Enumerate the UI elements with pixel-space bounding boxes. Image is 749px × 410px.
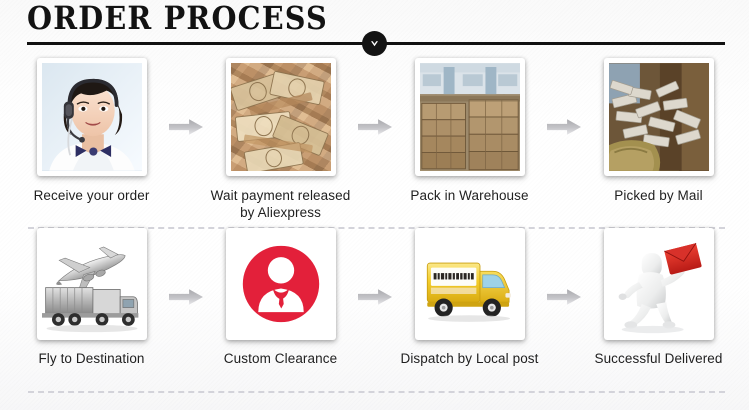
photo-frame-successful-delivered[interactable] bbox=[604, 228, 714, 340]
process-step-dispatch-local-post[interactable]: Dispatch by Local post bbox=[392, 228, 547, 367]
step-caption: Fly to Destination bbox=[8, 350, 176, 367]
arrow-right-icon bbox=[358, 228, 392, 308]
photo-frame-pack-warehouse[interactable] bbox=[415, 58, 525, 176]
step-caption-line-1: Wait payment released bbox=[211, 188, 351, 203]
step-caption: Receive your order bbox=[8, 187, 176, 204]
step-caption-line-2: by Aliexpress bbox=[240, 205, 321, 220]
photo-frame-dispatch-local-post[interactable] bbox=[415, 228, 525, 340]
process-step-wait-payment[interactable]: Wait payment released by Aliexpress bbox=[203, 58, 358, 221]
process-row-2: Fly to Destination Custom Clearance bbox=[0, 220, 749, 380]
page-title: ORDER PROCESS bbox=[27, 0, 328, 40]
process-step-receive-order[interactable]: Receive your order bbox=[14, 58, 169, 204]
photo-frame-wait-payment[interactable] bbox=[226, 58, 336, 176]
process-step-custom-clearance[interactable]: Custom Clearance bbox=[203, 228, 358, 367]
bottom-divider bbox=[28, 391, 725, 393]
step-caption: Wait payment released by Aliexpress bbox=[197, 187, 365, 221]
process-step-pack-warehouse[interactable]: Pack in Warehouse bbox=[392, 58, 547, 204]
process-step-fly-destination[interactable]: Fly to Destination bbox=[14, 228, 169, 367]
image-yellow-delivery-truck bbox=[420, 233, 520, 335]
image-mail-parcels bbox=[609, 63, 709, 171]
image-warehouse-boxes bbox=[420, 63, 520, 171]
arrow-right-icon bbox=[169, 58, 203, 138]
image-dollar-bills bbox=[231, 63, 331, 171]
process-step-picked-by-mail[interactable]: Picked by Mail bbox=[581, 58, 736, 204]
step-caption: Successful Delivered bbox=[575, 350, 743, 367]
step-caption: Pack in Warehouse bbox=[386, 187, 554, 204]
chevron-down-icon[interactable] bbox=[362, 31, 387, 56]
page-header: ORDER PROCESS bbox=[0, 0, 749, 52]
image-figure-with-envelope bbox=[609, 233, 709, 335]
photo-frame-receive-order[interactable] bbox=[37, 58, 147, 176]
photo-frame-picked-by-mail[interactable] bbox=[604, 58, 714, 176]
arrow-right-icon bbox=[169, 228, 203, 308]
photo-frame-fly-destination[interactable] bbox=[37, 228, 147, 340]
image-airplane-truck-logistics bbox=[42, 233, 142, 335]
step-caption: Dispatch by Local post bbox=[386, 350, 554, 367]
photo-frame-custom-clearance[interactable] bbox=[226, 228, 336, 340]
process-step-successful-delivered[interactable]: Successful Delivered bbox=[581, 228, 736, 367]
step-caption: Picked by Mail bbox=[575, 187, 743, 204]
step-caption: Custom Clearance bbox=[197, 350, 365, 367]
arrow-right-icon bbox=[547, 58, 581, 138]
process-row-1: Receive your order bbox=[0, 52, 749, 220]
arrow-right-icon bbox=[358, 58, 392, 138]
customs-officer-icon bbox=[231, 233, 331, 335]
arrow-right-icon bbox=[547, 228, 581, 308]
image-customer-service-agent bbox=[42, 63, 142, 171]
